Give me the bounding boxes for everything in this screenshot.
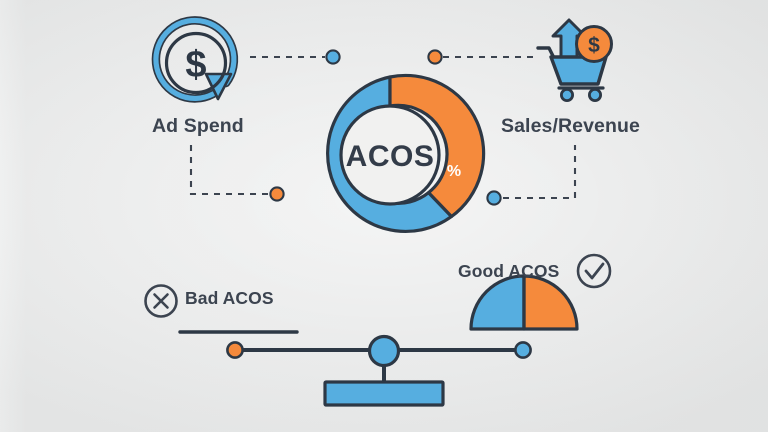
check-circle-ring [578,255,610,287]
seesaw-fulcrum [370,337,399,366]
dollar-glyph: $ [185,44,206,86]
acos-gauge [471,276,577,329]
seesaw-marker-right [515,342,530,357]
check-mark [586,264,603,278]
seesaw-marker-left [227,342,242,357]
x-circle-icon [146,286,177,317]
donut-center-title: ACOS [340,140,440,174]
coin-dollar-glyph: $ [588,34,600,57]
gauge-segment-bad [524,276,577,329]
shopping-cart-up-arrow-coin-icon: $ [538,20,612,101]
dollar-refresh-icon: $ [156,20,234,99]
infographic-artwork: $ $ [0,0,768,432]
connector-lower-right [503,145,575,198]
balance-seesaw [227,337,530,406]
connector-dot-lower-left [270,187,283,200]
cart-wheel-left [561,89,572,100]
connector-dot-top-right [428,50,441,63]
donut-percent-symbol: % [440,163,468,181]
seesaw-base [325,382,443,405]
ad-spend-label: Ad Spend [152,115,244,138]
cart-wheel-right [589,89,600,100]
infographic-canvas: $ $ [0,0,768,432]
connector-lower-left [191,145,269,194]
connector-dot-lower-right [487,191,500,204]
sales-revenue-label: Sales/Revenue [501,115,640,138]
gauge-segment-good [471,276,524,329]
good-acos-label: Good ACOS [458,261,559,282]
x-mark [155,295,168,308]
bad-acos-label: Bad ACOS [185,288,274,309]
connector-dot-top-left [326,50,339,63]
check-circle-icon [578,255,610,287]
